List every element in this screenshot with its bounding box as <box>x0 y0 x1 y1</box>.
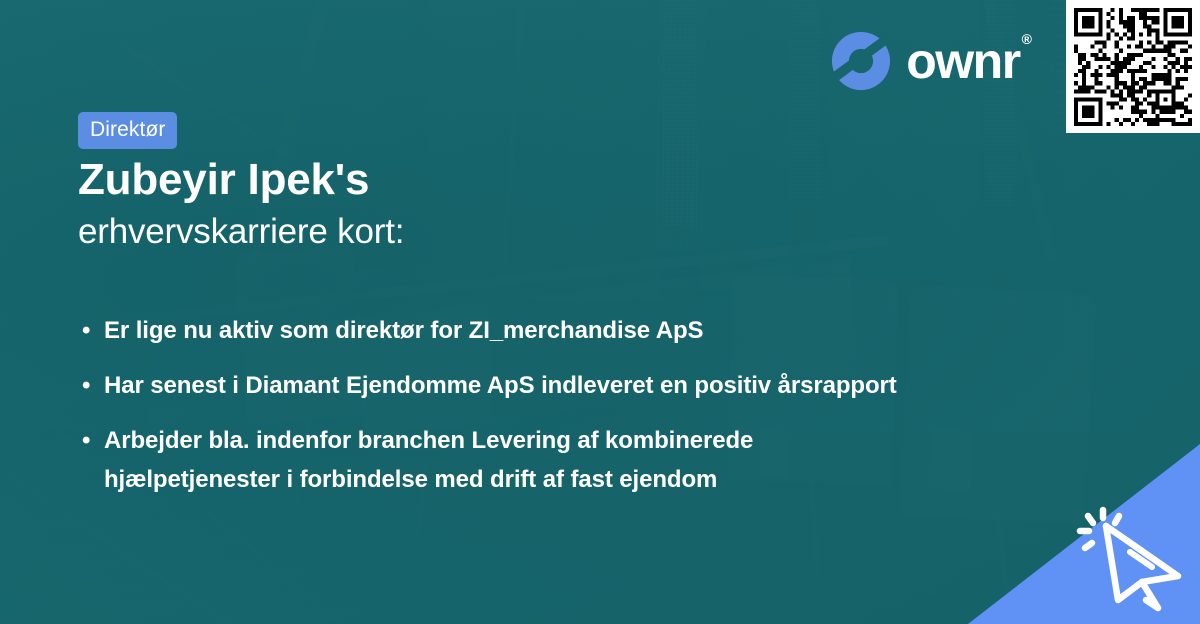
ownr-circle-mark <box>830 30 892 92</box>
career-facts-list: Er lige nu aktiv som direktør for ZI_mer… <box>78 312 918 516</box>
role-badge: Direktør <box>78 112 177 149</box>
list-item-text: Arbejder bla. indenfor branchen Levering… <box>104 427 753 493</box>
qr-code[interactable] <box>1074 8 1192 126</box>
list-item-text: Har senest i Diamant Ejendomme ApS indle… <box>104 372 897 399</box>
list-item-text: Er lige nu aktiv som direktør for ZI_mer… <box>104 317 703 344</box>
list-item: Har senest i Diamant Ejendomme ApS indle… <box>78 367 918 406</box>
list-item: Er lige nu aktiv som direktør for ZI_mer… <box>78 312 918 351</box>
ownr-logo[interactable]: ownr® <box>830 30 1030 92</box>
click-cursor-icon <box>1074 504 1186 614</box>
ownr-wordmark: ownr® <box>906 36 1030 86</box>
page-title: Zubeyir Ipek's <box>78 156 369 204</box>
ownr-wordmark-text: ownr <box>906 33 1019 89</box>
page-subtitle: erhvervskarriere kort: <box>78 212 404 252</box>
list-item: Arbejder bla. indenfor branchen Levering… <box>78 422 918 500</box>
card-content: Direktør Zubeyir Ipek's erhvervskarriere… <box>0 0 1200 624</box>
business-career-card: Direktør Zubeyir Ipek's erhvervskarriere… <box>0 0 1200 624</box>
registered-trademark-icon: ® <box>1022 31 1032 47</box>
qr-code-panel[interactable] <box>1066 0 1200 133</box>
